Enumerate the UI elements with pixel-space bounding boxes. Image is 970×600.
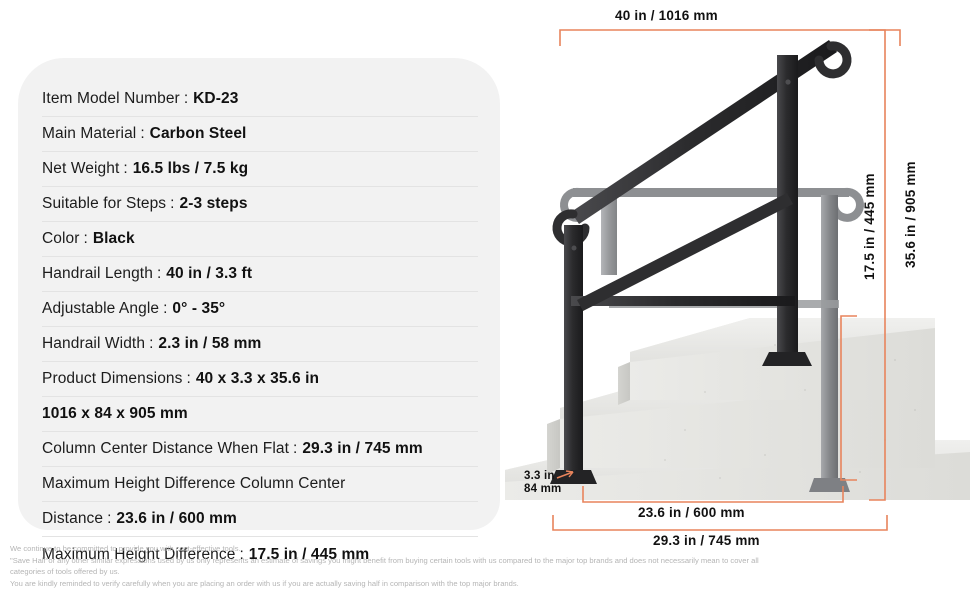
spec-row: Maximum Height Difference Column Center	[42, 467, 478, 502]
footer-disclaimer: We continue to be committed to provide y…	[10, 543, 962, 589]
spec-row: Item Model Number:KD-23	[42, 82, 478, 117]
spec-row-label: Adjustable Angle	[42, 300, 159, 318]
dimension-label-top-width: 40 in / 1016 mm	[615, 8, 718, 23]
spec-row-label: Color	[42, 230, 80, 248]
dimension-label-bottom-inner: 23.6 in / 600 mm	[638, 505, 745, 520]
spec-row-separator: :	[149, 335, 153, 353]
spec-row-separator: :	[293, 440, 297, 458]
spec-row-label: Product Dimensions	[42, 370, 183, 388]
spec-row: Product Dimensions:40 x 3.3 x 35.6 in	[42, 362, 478, 397]
spec-row-separator: :	[163, 300, 167, 318]
spec-row-separator: :	[170, 195, 174, 213]
spec-row-separator: :	[187, 370, 191, 388]
spec-row-value: Carbon Steel	[150, 125, 247, 143]
spec-row-label: Distance	[42, 510, 103, 528]
spec-row-value: 29.3 in / 745 mm	[302, 440, 423, 458]
spec-row: Color:Black	[42, 222, 478, 257]
spec-row-value: 1016 x 84 x 905 mm	[42, 405, 188, 423]
footer-line-3: categories of tools offered by us.	[10, 566, 962, 578]
spec-row-label: Net Weight	[42, 160, 119, 178]
footer-line-2: "Save Half"or any other similar expressi…	[10, 555, 962, 567]
spec-row: Adjustable Angle:0° - 35°	[42, 292, 478, 327]
spec-row-value: 40 in / 3.3 ft	[166, 265, 252, 283]
spec-row-value: 2-3 steps	[179, 195, 247, 213]
spec-row: Handrail Width:2.3 in / 58 mm	[42, 327, 478, 362]
spec-row-label: Handrail Length	[42, 265, 153, 283]
spec-row-separator: :	[157, 265, 161, 283]
spec-row: 1016 x 84 x 905 mm	[42, 397, 478, 432]
spec-row-separator: :	[84, 230, 88, 248]
spec-row-label: Maximum Height Difference Column Center	[42, 475, 345, 493]
dimension-label-right-outer: 35.6 in / 905 mm	[903, 161, 918, 268]
spec-row-value: Black	[93, 230, 135, 248]
spec-row-value: 40 x 3.3 x 35.6 in	[196, 370, 319, 388]
specification-card: Item Model Number:KD-23Main Material:Car…	[18, 58, 500, 530]
spec-row: Handrail Length:40 in / 3.3 ft	[42, 257, 478, 292]
footer-line-4: You are kindly reminded to verify carefu…	[10, 578, 962, 590]
spec-row-separator: :	[140, 125, 144, 143]
spec-row-label: Item Model Number	[42, 90, 180, 108]
spec-row-value: 2.3 in / 58 mm	[158, 335, 261, 353]
spec-row-value: 23.6 in / 600 mm	[116, 510, 237, 528]
footer-line-1: We continue to be committed to provide y…	[10, 543, 962, 555]
spec-row-value: 0° - 35°	[172, 300, 225, 318]
specification-row-list: Item Model Number:KD-23Main Material:Car…	[18, 58, 500, 572]
dimension-label-right-inner: 17.5 in / 445 mm	[862, 173, 877, 280]
spec-row-label: Suitable for Steps	[42, 195, 166, 213]
handrail-diagram-svg	[505, 0, 970, 545]
spec-row-label: Main Material	[42, 125, 136, 143]
spec-row-separator: :	[107, 510, 111, 528]
spec-row: Suitable for Steps:2-3 steps	[42, 187, 478, 222]
spec-row-label: Handrail Width	[42, 335, 145, 353]
spec-row-label: Column Center Distance When Flat	[42, 440, 289, 458]
spec-row-separator: :	[123, 160, 127, 178]
spec-row: Distance:23.6 in / 600 mm	[42, 502, 478, 537]
spec-row: Column Center Distance When Flat:29.3 in…	[42, 432, 478, 467]
spec-row: Net Weight:16.5 lbs / 7.5 kg	[42, 152, 478, 187]
dimension-label-base-plate: 3.3 in 84 mm	[524, 470, 561, 496]
spec-row-separator: :	[184, 90, 188, 108]
spec-row-value: 16.5 lbs / 7.5 kg	[133, 160, 248, 178]
product-illustration: 40 in / 1016 mm 23.6 in / 600 mm 29.3 in…	[505, 0, 970, 545]
dim-line-top-width	[560, 30, 900, 46]
spec-row-value: KD-23	[193, 90, 238, 108]
spec-row: Main Material:Carbon Steel	[42, 117, 478, 152]
